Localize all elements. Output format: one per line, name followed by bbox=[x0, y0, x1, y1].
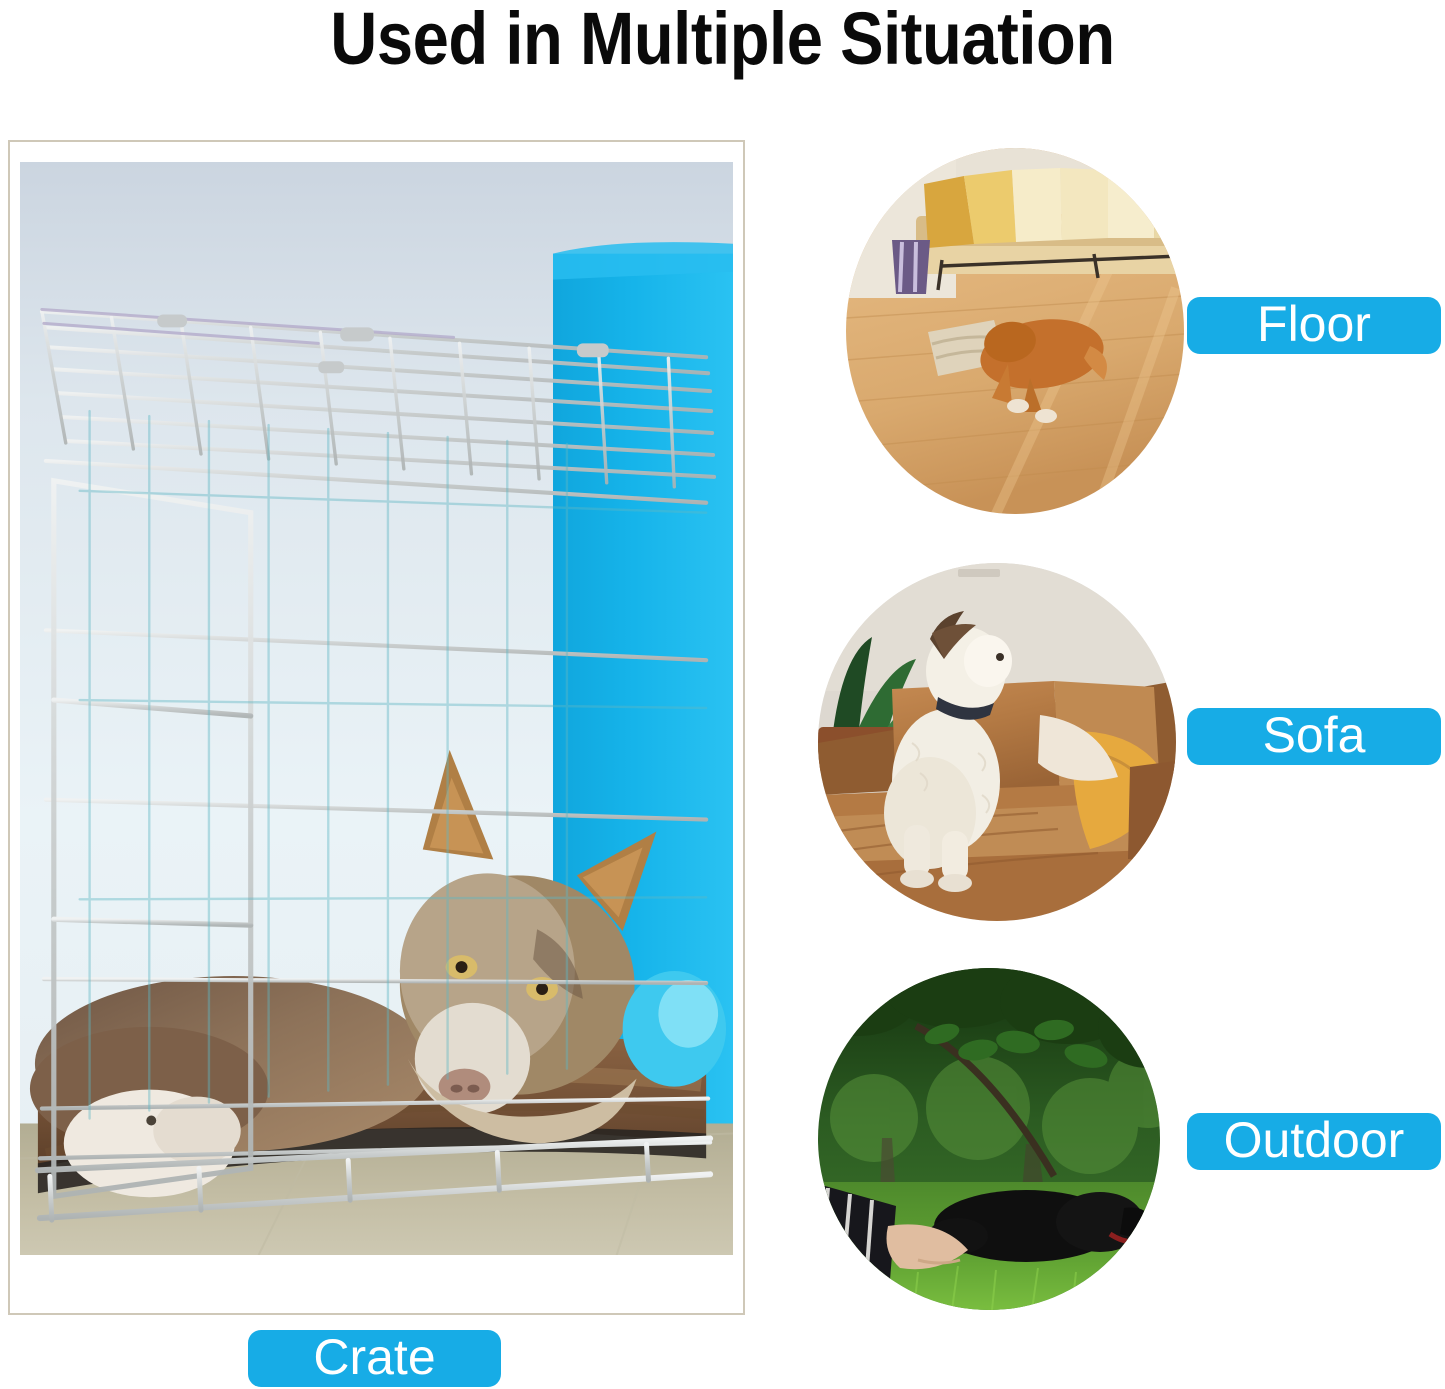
badge-text-outdoor: Outdoor bbox=[1224, 1115, 1405, 1165]
situation-photo-outdoor bbox=[818, 968, 1160, 1310]
crate-photo bbox=[20, 162, 733, 1255]
badge-text-sofa: Sofa bbox=[1263, 710, 1366, 760]
situation-label-outdoor[interactable]: Outdoor bbox=[1187, 1113, 1441, 1170]
badge-text-floor: Floor bbox=[1257, 299, 1371, 349]
situation-label-crate[interactable]: Crate bbox=[248, 1330, 501, 1387]
page-title: Used in Multiple Situation bbox=[87, 0, 1359, 81]
badge-text-crate: Crate bbox=[313, 1332, 435, 1382]
crate-photo-frame bbox=[8, 140, 745, 1315]
situation-label-sofa[interactable]: Sofa bbox=[1187, 708, 1441, 765]
situation-photo-floor bbox=[846, 148, 1184, 514]
situation-photo-sofa bbox=[818, 563, 1176, 921]
situation-label-floor[interactable]: Floor bbox=[1187, 297, 1441, 354]
